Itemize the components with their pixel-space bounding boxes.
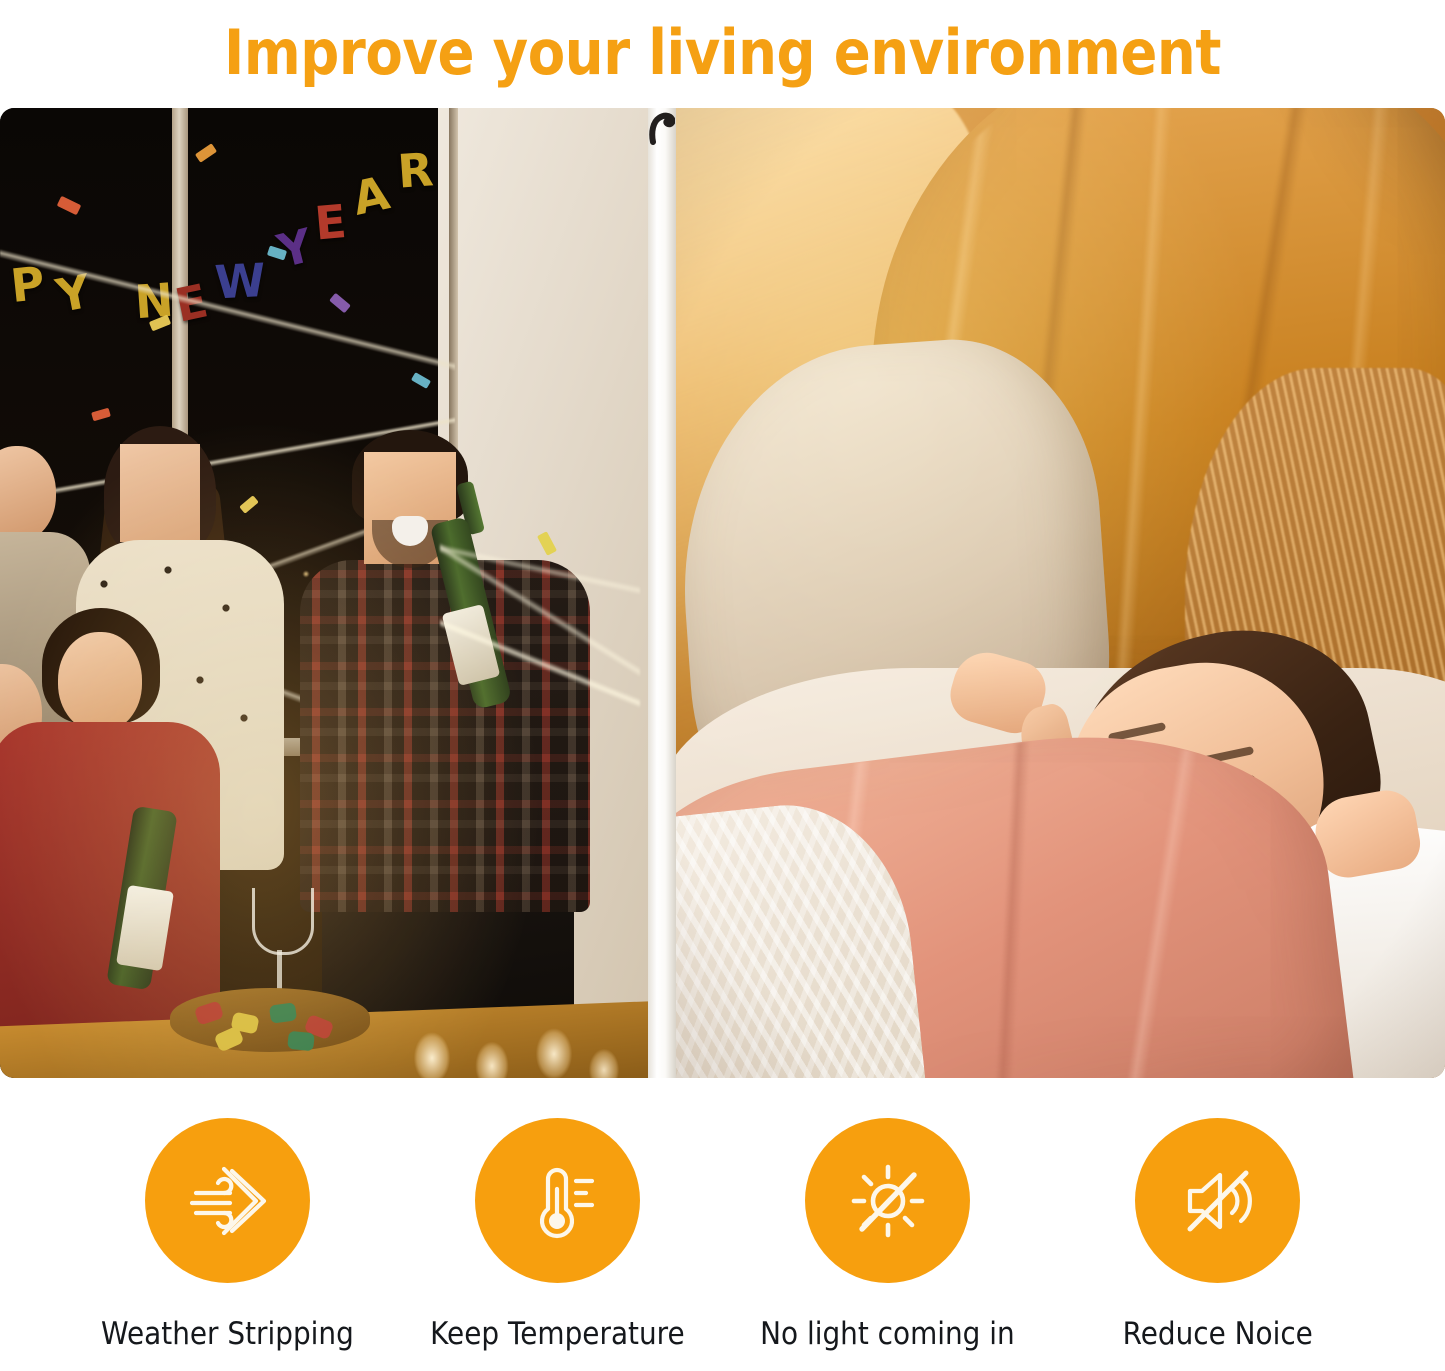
champagne-spray — [440, 438, 640, 858]
feature-icon-circle — [805, 1118, 970, 1283]
feature-label: Weather Stripping — [101, 1317, 354, 1351]
tea-light-candles — [404, 984, 634, 1078]
feature-label: No light coming in — [760, 1317, 1015, 1351]
feature-weather-stripping: Weather Stripping — [63, 1118, 393, 1351]
feature-icon-circle — [1135, 1118, 1300, 1283]
feature-no-light: No light coming in — [723, 1118, 1053, 1351]
weather-seal-strip-icon — [649, 112, 675, 146]
hero-image-band: P P Y N E W Y E A R — [0, 108, 1445, 1078]
wind-into-seal-icon — [180, 1153, 276, 1249]
sleeping-child-photo — [676, 108, 1445, 1078]
feature-icon-circle — [475, 1118, 640, 1283]
thermometer-icon — [510, 1153, 606, 1249]
feature-reduce-noise: Reduce Noice — [1053, 1118, 1383, 1351]
feature-row: Weather Stripping Keep Temperature — [0, 1118, 1445, 1371]
new-year-party-photo: P P Y N E W Y E A R — [0, 108, 648, 1078]
seated-woman-face — [58, 632, 142, 732]
feature-label: Keep Temperature — [430, 1317, 685, 1351]
speaker-mute-icon — [1170, 1153, 1266, 1249]
champagne-flute-bowl — [252, 888, 314, 955]
door-edge-weather-seal — [648, 108, 676, 1078]
feature-label: Reduce Noice — [1122, 1317, 1312, 1351]
feature-icon-circle — [145, 1118, 310, 1283]
feature-keep-temperature: Keep Temperature — [393, 1118, 723, 1351]
page-title: Improve your living environment — [224, 22, 1221, 84]
sun-slash-icon — [840, 1153, 936, 1249]
woman-face — [120, 444, 200, 542]
headline-bar: Improve your living environment — [0, 0, 1445, 106]
